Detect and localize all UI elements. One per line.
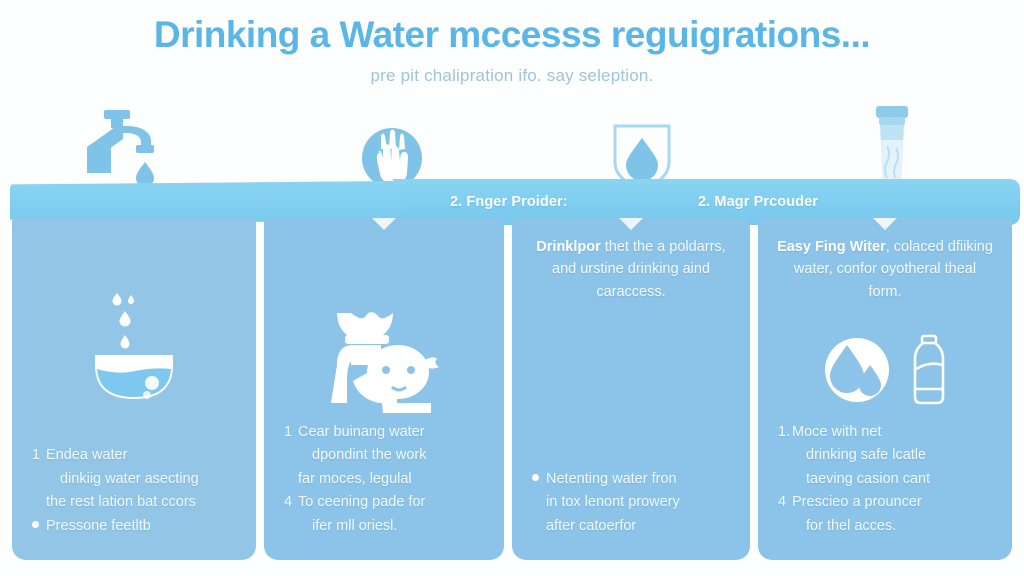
panel-1[interactable]: 1Endea water dinkiig water asecting the …	[12, 218, 256, 560]
list-item: after catoerfor	[532, 515, 730, 538]
list-marker: 1	[32, 444, 46, 467]
list-item: dinkiig water asecting	[32, 468, 236, 491]
header: Drinking a Water mccesss reguigrations..…	[0, 0, 1024, 104]
panel-notch	[371, 218, 397, 230]
list-text: dpondint the work	[312, 447, 426, 463]
list-item: 4Prescieo a prouncer	[778, 491, 992, 514]
banner-label-3: 2. Magr Prcouder	[698, 194, 818, 210]
list-item: ifer mll oriesl.	[284, 515, 484, 538]
page-subtitle: pre pit chalipration ifo. say seleption.	[0, 56, 1024, 86]
list-item: for thel acces.	[778, 515, 992, 538]
bullet-dot-icon	[532, 474, 539, 481]
list-text: in tox lenont prowery	[546, 494, 680, 510]
list-marker: 1.	[778, 421, 792, 444]
panel-row: 1Endea water dinkiig water asecting the …	[0, 218, 1024, 563]
list-text: Moce with net	[792, 424, 881, 440]
person-figure-icon	[264, 290, 504, 420]
water-drops-circle-and-bottle-icon	[758, 320, 1012, 420]
list-text: Prescieo a prouncer	[792, 494, 922, 510]
panel-4-body: 1.Moce with net drinking safe lcatle tae…	[758, 421, 1012, 538]
infographic-root: Drinking a Water mccesss reguigrations..…	[0, 0, 1024, 576]
water-drops-circle-icon	[820, 333, 894, 407]
list-text: Netenting water fron	[546, 471, 677, 487]
list-item: 4To ceening pade for	[284, 491, 484, 514]
bullet-dot-icon	[32, 521, 39, 528]
panel-3-lead: Drinklpor thet the a poldarrs, and ursti…	[512, 218, 750, 303]
list-item: drinking safe lcatle	[778, 444, 992, 467]
banner-label-2: 2. Fnger Proider:	[450, 194, 568, 210]
list-item: taeving casion cant	[778, 468, 992, 491]
panel-4-lead-bold: Easy Fing Witer	[777, 239, 886, 255]
top-icon-row	[0, 100, 1024, 190]
panel-3-lead-bold: Drinklpor	[536, 239, 600, 255]
list-text: Pressone feetltb	[46, 518, 151, 534]
list-marker: 1	[284, 421, 298, 444]
page-title: Drinking a Water mccesss reguigrations..…	[0, 0, 1024, 56]
list-text: drinking safe lcatle	[806, 447, 926, 463]
panel-4-lead: Easy Fing Witer, colaced dfiiking water,…	[758, 218, 1012, 303]
panel-4[interactable]: Easy Fing Witer, colaced dfiiking water,…	[758, 218, 1012, 560]
list-text: for thel acces.	[806, 518, 896, 534]
bottle-icon	[908, 333, 950, 407]
panel-2-body: 1Cear buinang water dpondint the work fa…	[264, 421, 504, 538]
list-text: after catoerfor	[546, 518, 636, 534]
list-text: Cear buinang water	[298, 424, 425, 440]
list-text: ifer mll oriesl.	[312, 518, 397, 534]
list-item: far moces, legulal	[284, 468, 484, 491]
list-text: dinkiig water asecting	[60, 471, 199, 487]
list-item: Netenting water fron	[532, 468, 730, 491]
list-text: far moces, legulal	[298, 471, 412, 487]
list-item: dpondint the work	[284, 444, 484, 467]
list-text: Endea water	[46, 447, 127, 463]
glass-of-water-with-drops-icon	[12, 278, 256, 408]
list-marker: 4	[778, 491, 792, 514]
list-item: 1Endea water	[32, 444, 236, 467]
panel-3-body: Netenting water fron in tox lenont prowe…	[512, 468, 750, 538]
list-item: Pressone feetltb	[32, 515, 236, 538]
tumbler-bottle-icon	[822, 100, 962, 190]
list-text: To ceening pade for	[298, 494, 425, 510]
panel-3[interactable]: Drinklpor thet the a poldarrs, and ursti…	[512, 218, 750, 560]
list-text: the rest lation bat ccors	[46, 494, 196, 510]
panel-1-body: 1Endea water dinkiig water asecting the …	[12, 444, 256, 538]
list-item: the rest lation bat ccors	[32, 491, 236, 514]
list-text: taeving casion cant	[806, 471, 930, 487]
list-marker: 4	[284, 491, 298, 514]
list-item: 1Cear buinang water	[284, 421, 484, 444]
panel-2[interactable]: 1Cear buinang water dpondint the work fa…	[264, 218, 504, 560]
list-item: in tox lenont prowery	[532, 491, 730, 514]
banner-segment-1[interactable]	[10, 181, 410, 223]
list-item: 1.Moce with net	[778, 421, 992, 444]
faucet-water-drop-icon	[52, 100, 192, 190]
